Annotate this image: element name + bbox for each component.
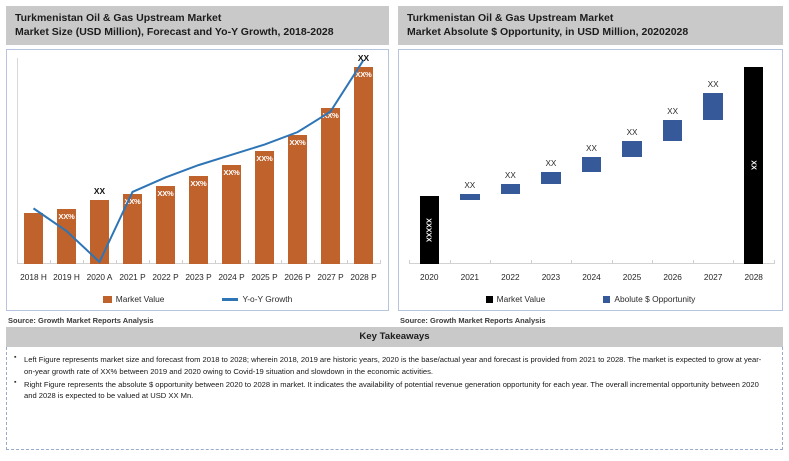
x-axis-label: 2026 P [281, 272, 314, 282]
bar-absolute-opportunity[interactable] [582, 157, 601, 171]
bar-outside-label: XX [612, 128, 653, 137]
right-chart-legend: Market ValueAbolute $ Opportunity [399, 294, 782, 304]
absolute-opportunity-chart[interactable]: XXXXXXXXXXXXXXXXXXXXX 202020212022202320… [398, 49, 783, 311]
x-axis-label: 2020 A [83, 272, 116, 282]
market-size-plot-area: XX%XX%XX%XX%XX%XX%XX%XX%XX% XXXX [17, 58, 380, 264]
x-axis-label: 2019 H [50, 272, 83, 282]
legend-item[interactable]: Abolute $ Opportunity [603, 294, 695, 304]
x-axis-tick [409, 260, 410, 264]
legend-label: Abolute $ Opportunity [614, 294, 695, 304]
x-axis-label: 2023 P [182, 272, 215, 282]
x-axis-label: 2026 [652, 272, 693, 282]
legend-line-icon [222, 298, 238, 301]
x-axis-label: 2024 P [215, 272, 248, 282]
left-chart-legend: Market ValueY-o-Y Growth [7, 294, 388, 304]
x-axis-tick [450, 260, 451, 264]
legend-item[interactable]: Market Value [103, 294, 165, 304]
yoy-growth-line [34, 60, 364, 262]
right-chart-source: Source: Growth Market Reports Analysis [398, 316, 783, 325]
bar-market-value[interactable]: XXXXX [420, 196, 439, 264]
bar-outside-label: XX [693, 80, 734, 89]
bar-absolute-opportunity[interactable] [541, 172, 560, 184]
x-axis-tick [652, 260, 653, 264]
x-axis-tick [490, 260, 491, 264]
left-chart-panel: Turkmenistan Oil & Gas Upstream Market M… [6, 6, 389, 320]
bar-outside-label: XX [571, 144, 612, 153]
bar-absolute-opportunity[interactable] [622, 141, 641, 157]
key-takeaways-list: Left Figure represents market size and f… [13, 354, 770, 402]
legend-item[interactable]: Market Value [486, 294, 546, 304]
legend-square-icon [603, 296, 610, 303]
legend-label: Market Value [116, 294, 165, 304]
x-axis-tick [693, 260, 694, 264]
bar-outside-label: XX [450, 181, 491, 190]
bar-outside-label: XX [490, 171, 531, 180]
x-axis-label: 2021 P [116, 272, 149, 282]
x-axis-label: 2023 [531, 272, 572, 282]
right-panel-title-line2: Market Absolute $ Opportunity, in USD Mi… [407, 25, 775, 39]
right-panel-header: Turkmenistan Oil & Gas Upstream Market M… [398, 6, 783, 45]
left-panel-title-line2: Market Size (USD Million), Forecast and … [15, 25, 381, 39]
right-chart-panel: Turkmenistan Oil & Gas Upstream Market M… [398, 6, 783, 320]
bar-data-label: XXXXX [425, 219, 434, 243]
legend-square-icon [486, 296, 493, 303]
bar-outside-label: XX [347, 53, 380, 63]
market-size-chart[interactable]: XX%XX%XX%XX%XX%XX%XX%XX%XX% XXXX 2018 H2… [6, 49, 389, 311]
left-chart-source: Source: Growth Market Reports Analysis [6, 316, 389, 325]
x-axis-label: 2027 [693, 272, 734, 282]
x-axis-label: 2027 P [314, 272, 347, 282]
bar-outside-label: XX [83, 186, 116, 196]
x-axis-tick [531, 260, 532, 264]
x-axis-label: 2022 [490, 272, 531, 282]
legend-label: Y-o-Y Growth [242, 294, 292, 304]
x-axis-label: 2018 H [17, 272, 50, 282]
x-axis-tick [612, 260, 613, 264]
bar-absolute-opportunity[interactable] [663, 120, 682, 141]
bar-outside-label: XX [652, 107, 693, 116]
bar-absolute-opportunity[interactable] [703, 93, 722, 120]
legend-item[interactable]: Y-o-Y Growth [222, 294, 292, 304]
left-panel-title-line1: Turkmenistan Oil & Gas Upstream Market [15, 11, 381, 25]
key-takeaways-title: Key Takeaways [6, 327, 783, 347]
legend-bar-icon [103, 296, 112, 303]
bar-data-label: XX [749, 161, 758, 170]
x-axis-label: 2021 [450, 272, 491, 282]
absolute-opportunity-plot-area: XXXXXXXXXXXXXXXXXXXXX [409, 58, 774, 264]
x-axis-label: 2025 P [248, 272, 281, 282]
x-axis-label: 2024 [571, 272, 612, 282]
left-panel-header: Turkmenistan Oil & Gas Upstream Market M… [6, 6, 389, 45]
key-takeaways-section: Key Takeaways Left Figure represents mar… [6, 327, 783, 450]
x-axis-label: 2025 [612, 272, 653, 282]
key-takeaway-bullet: Left Figure represents market size and f… [13, 354, 770, 378]
right-panel-title-line1: Turkmenistan Oil & Gas Upstream Market [407, 11, 775, 25]
bar-outside-label: XX [531, 159, 572, 168]
x-axis-tick [380, 260, 381, 264]
x-axis-label: 2028 P [347, 272, 380, 282]
x-axis-tick [774, 260, 775, 264]
line-series-yoy-growth [17, 58, 380, 264]
x-axis-tick [733, 260, 734, 264]
bar-absolute-opportunity[interactable] [460, 194, 479, 200]
x-axis-tick [571, 260, 572, 264]
x-axis-label: 2022 P [149, 272, 182, 282]
x-axis-label: 2028 [733, 272, 774, 282]
bar-absolute-opportunity[interactable] [501, 184, 520, 194]
bar-market-value[interactable]: XX [744, 67, 763, 265]
x-axis-category-labels: 2018 H2019 H2020 A2021 P2022 P2023 P2024… [17, 266, 380, 282]
x-axis-category-labels: 202020212022202320242025202620272028 [409, 266, 774, 282]
key-takeaways-body: Left Figure represents market size and f… [6, 347, 783, 450]
legend-label: Market Value [497, 294, 546, 304]
x-axis-label: 2020 [409, 272, 450, 282]
slide-canvas: Turkmenistan Oil & Gas Upstream Market M… [0, 0, 789, 461]
key-takeaway-bullet: Right Figure represents the absolute $ o… [13, 379, 770, 403]
